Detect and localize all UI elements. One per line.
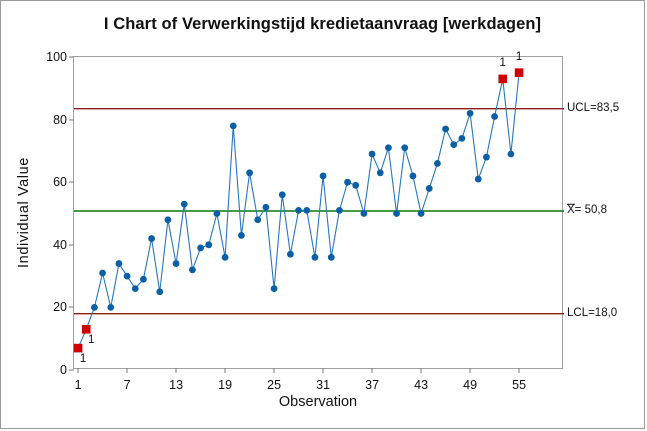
data-point[interactable]	[410, 173, 417, 180]
data-point[interactable]	[450, 141, 457, 148]
data-point[interactable]	[442, 126, 449, 133]
chart-title: I Chart of Verwerkingstijd kredietaanvra…	[1, 15, 644, 34]
data-point[interactable]	[491, 113, 498, 120]
data-point[interactable]	[124, 273, 131, 280]
violation-number-label: 1	[516, 51, 522, 63]
data-point[interactable]	[426, 185, 433, 192]
data-point[interactable]	[483, 154, 490, 161]
y-tick-label: 100	[46, 50, 74, 64]
x-tick-mark	[78, 368, 79, 373]
data-point[interactable]	[222, 254, 229, 261]
x-tick-mark	[225, 368, 226, 373]
x-tick-label: 31	[316, 378, 330, 392]
data-point[interactable]	[99, 270, 106, 277]
data-point[interactable]	[181, 201, 188, 208]
x-tick-label: 1	[75, 378, 82, 392]
data-point[interactable]	[271, 285, 278, 292]
data-point[interactable]	[205, 241, 212, 248]
x-tick-mark	[323, 368, 324, 373]
data-point[interactable]	[401, 144, 408, 151]
data-point-violation[interactable]	[74, 344, 83, 353]
y-axis-label: Individual Value	[14, 56, 34, 369]
data-point[interactable]	[475, 176, 482, 183]
violation-number-label: 1	[80, 353, 86, 365]
data-point[interactable]	[116, 260, 123, 267]
x-tick-mark	[421, 368, 422, 373]
data-point[interactable]	[336, 207, 343, 214]
y-tick-label: 80	[53, 113, 74, 127]
data-point[interactable]	[508, 151, 515, 158]
data-point[interactable]	[246, 169, 253, 176]
data-point[interactable]	[295, 207, 302, 214]
data-point[interactable]	[254, 216, 261, 223]
data-point[interactable]	[320, 173, 327, 180]
data-point[interactable]	[279, 191, 286, 198]
data-point[interactable]	[467, 110, 474, 117]
x-tick-label: 25	[267, 378, 281, 392]
data-point[interactable]	[459, 135, 466, 142]
data-point[interactable]	[312, 254, 319, 261]
y-tick-label: 60	[53, 175, 74, 189]
data-point[interactable]	[393, 210, 400, 217]
x-tick-mark	[470, 368, 471, 373]
chart-figure: I Chart of Verwerkingstijd kredietaanvra…	[0, 0, 645, 429]
data-point-violation[interactable]	[498, 75, 507, 84]
data-point[interactable]	[156, 288, 163, 295]
data-point[interactable]	[214, 210, 221, 217]
x-tick-label: 43	[414, 378, 428, 392]
x-tick-label: 37	[365, 378, 379, 392]
data-point[interactable]	[107, 304, 114, 311]
data-point[interactable]	[91, 304, 98, 311]
data-point[interactable]	[148, 235, 155, 242]
data-point[interactable]	[238, 232, 245, 239]
data-point[interactable]	[434, 160, 441, 167]
data-point[interactable]	[352, 182, 359, 189]
x-tick-mark	[274, 368, 275, 373]
x-tick-label: 49	[463, 378, 477, 392]
data-point[interactable]	[328, 254, 335, 261]
data-point[interactable]	[418, 210, 425, 217]
data-point[interactable]	[263, 204, 270, 211]
x-tick-mark	[127, 368, 128, 373]
data-point[interactable]	[132, 285, 139, 292]
control-limit-label-cl: X= 50,8	[567, 204, 607, 217]
control-limit-value: = 50,8	[575, 204, 607, 216]
control-limit-label-ucl: UCL=83,5	[567, 102, 619, 114]
data-point[interactable]	[197, 245, 204, 252]
data-point[interactable]	[230, 122, 237, 129]
y-tick-label: 40	[53, 238, 74, 252]
control-limit-label-lcl: LCL=18,0	[567, 307, 617, 319]
data-point[interactable]	[173, 260, 180, 267]
violation-number-label: 1	[88, 334, 94, 346]
data-point[interactable]	[369, 151, 376, 158]
data-point[interactable]	[344, 179, 351, 186]
data-point[interactable]	[165, 216, 172, 223]
x-tick-mark	[176, 368, 177, 373]
data-point-violation[interactable]	[82, 325, 91, 334]
data-point[interactable]	[287, 251, 294, 258]
x-tick-label: 13	[169, 378, 183, 392]
plot-area: 020406080100 171319253137434955 1111	[73, 56, 563, 369]
data-point[interactable]	[189, 266, 196, 273]
data-point[interactable]	[385, 144, 392, 151]
plot-inner	[74, 57, 562, 368]
x-tick-label: 55	[512, 378, 526, 392]
x-tick-label: 7	[124, 378, 131, 392]
x-tick-label: 19	[218, 378, 232, 392]
x-tick-mark	[519, 368, 520, 373]
data-point[interactable]	[361, 210, 368, 217]
x-bar-symbol: X	[567, 204, 575, 217]
data-point[interactable]	[303, 207, 310, 214]
x-tick-mark	[372, 368, 373, 373]
y-tick-label: 0	[60, 363, 74, 377]
data-series	[74, 57, 564, 370]
violation-number-label: 1	[500, 57, 506, 69]
y-tick-label: 20	[53, 300, 74, 314]
data-point[interactable]	[140, 276, 147, 283]
x-axis-label: Observation	[73, 394, 563, 410]
data-point[interactable]	[377, 169, 384, 176]
data-point-violation[interactable]	[515, 68, 524, 77]
